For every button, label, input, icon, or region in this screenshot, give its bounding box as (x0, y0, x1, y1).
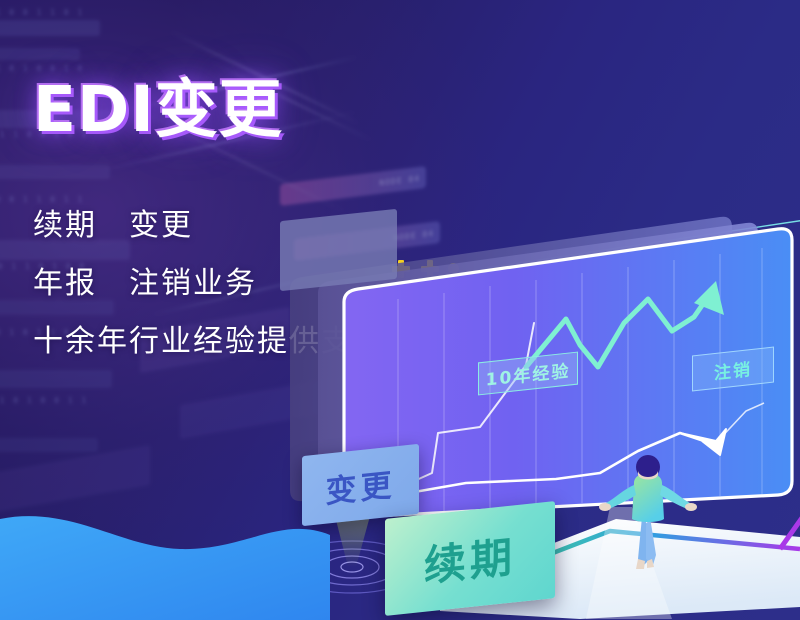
edi-banner: 0 1 0 0 1 1 0 1 1 1 0 1 0 0 1 0 0 1 1 0 … (0, 0, 800, 620)
page-title: EDI变更 (33, 78, 283, 141)
subtitle-line-2: 年报 注销业务 (33, 258, 257, 302)
decorative-wave (0, 475, 330, 620)
card-change-backplate (280, 209, 397, 291)
subtitle-line-1: 续期 变更 (33, 200, 193, 244)
hero-illustration: 10年经验 注销 变更 续期 (280, 215, 800, 620)
person-figure (598, 455, 698, 585)
card-renew: 续期 (385, 501, 555, 616)
texture-node-label-1: NODE 04 (280, 166, 426, 206)
